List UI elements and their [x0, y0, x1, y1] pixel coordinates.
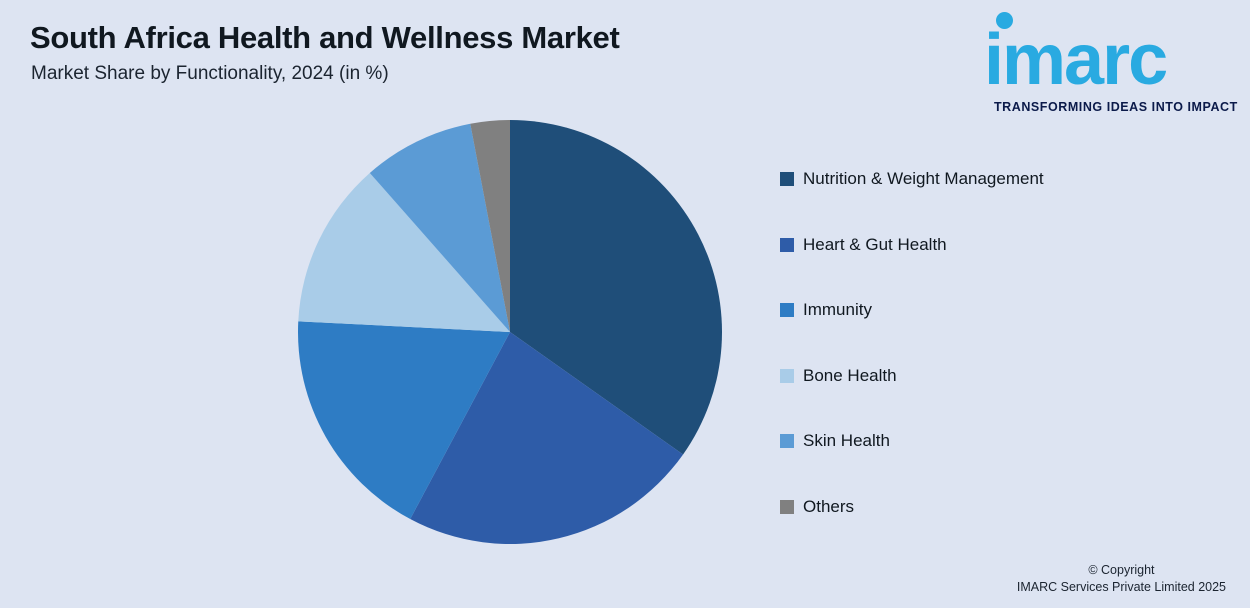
legend-item-label: Skin Health	[803, 430, 890, 452]
copyright-line-2: IMARC Services Private Limited 2025	[1017, 579, 1226, 596]
legend-item-label: Immunity	[803, 299, 872, 321]
pie-slice-group	[298, 120, 722, 544]
legend-swatch-icon	[780, 500, 794, 514]
legend-swatch-icon	[780, 172, 794, 186]
legend-item[interactable]: Immunity	[780, 299, 1120, 321]
legend-item[interactable]: Bone Health	[780, 365, 1120, 387]
legend-item-label: Bone Health	[803, 365, 897, 387]
legend-item-label: Heart & Gut Health	[803, 234, 947, 256]
legend-swatch-icon	[780, 238, 794, 252]
chart-legend: Nutrition & Weight ManagementHeart & Gut…	[780, 168, 1120, 561]
legend-item-label: Others	[803, 496, 854, 518]
legend-swatch-icon	[780, 434, 794, 448]
logo-wordmark-icon: imarc	[984, 26, 1232, 98]
page-subtitle: Market Share by Functionality, 2024 (in …	[31, 63, 389, 85]
svg-text:imarc: imarc	[984, 26, 1166, 98]
copyright-footer: © Copyright IMARC Services Private Limit…	[1017, 562, 1226, 596]
legend-swatch-icon	[780, 369, 794, 383]
copyright-line-1: © Copyright	[1017, 562, 1226, 579]
chart-page: South Africa Health and Wellness Market …	[0, 0, 1250, 608]
logo-tagline: TRANSFORMING IDEAS INTO IMPACT	[994, 100, 1232, 114]
page-title: South Africa Health and Wellness Market	[30, 20, 620, 56]
legend-swatch-icon	[780, 303, 794, 317]
imarc-logo: imarc TRANSFORMING IDEAS INTO IMPACT	[984, 12, 1232, 116]
legend-item[interactable]: Heart & Gut Health	[780, 234, 1120, 256]
legend-item[interactable]: Nutrition & Weight Management	[780, 168, 1120, 190]
pie-chart	[298, 120, 722, 544]
legend-item[interactable]: Others	[780, 496, 1120, 518]
pie-chart-svg	[298, 120, 722, 544]
legend-item[interactable]: Skin Health	[780, 430, 1120, 452]
legend-item-label: Nutrition & Weight Management	[803, 168, 1044, 190]
